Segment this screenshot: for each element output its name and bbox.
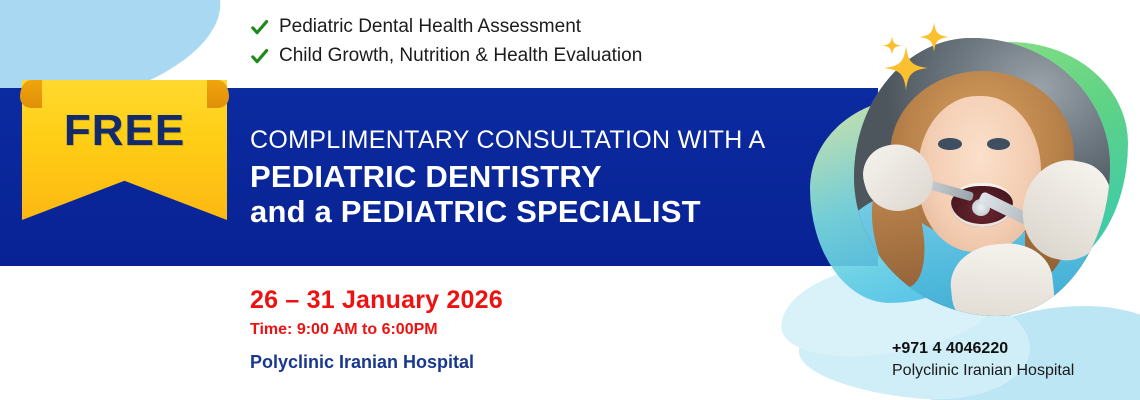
contact-info: +971 4 4046220 Polyclinic Iranian Hospit… (892, 340, 1074, 380)
checklist-item-label: Child Growth, Nutrition & Health Evaluat… (279, 45, 642, 67)
headline-line-3: and a PEDIATRIC SPECIALIST (250, 196, 830, 228)
headline-line-2: PEDIATRIC DENTISTRY (250, 161, 830, 193)
contact-organization: Polyclinic Iranian Hospital (892, 362, 1074, 380)
free-badge-label: FREE (22, 106, 227, 156)
list-item: Child Growth, Nutrition & Health Evaluat… (250, 45, 642, 67)
event-details: 26 – 31 January 2026 Time: 9:00 AM to 6:… (250, 286, 503, 373)
free-badge: FREE (22, 80, 227, 220)
contact-phone[interactable]: +971 4 4046220 (892, 340, 1074, 358)
benefits-checklist: Pediatric Dental Health Assessment Child… (250, 16, 642, 74)
list-item: Pediatric Dental Health Assessment (250, 16, 642, 38)
photo-area (832, 6, 1132, 336)
event-venue: Polyclinic Iranian Hospital (250, 352, 503, 373)
child-dental-exam-photo (854, 38, 1110, 316)
ribbon-curl-left-icon (20, 80, 42, 108)
check-icon (250, 47, 269, 66)
check-icon (250, 18, 269, 37)
headline-line-1: COMPLIMENTARY CONSULTATION WITH A (250, 128, 830, 154)
promotional-banner: Pediatric Dental Health Assessment Child… (0, 0, 1140, 400)
event-time: Time: 9:00 AM to 6:00PM (250, 321, 503, 339)
headline-block: COMPLIMENTARY CONSULTATION WITH A PEDIAT… (250, 128, 830, 228)
ribbon-curl-right-icon (207, 80, 229, 108)
checklist-item-label: Pediatric Dental Health Assessment (279, 16, 581, 38)
event-date: 26 – 31 January 2026 (250, 286, 503, 315)
